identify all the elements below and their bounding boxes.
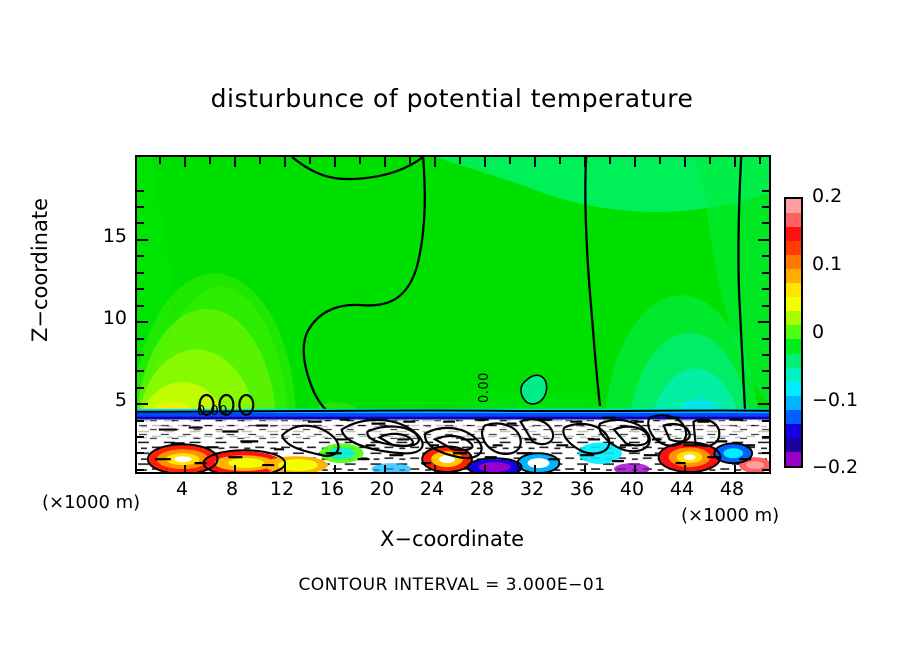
- ytick-right-10: [758, 321, 769, 323]
- xtick-top-32: [534, 157, 536, 167]
- xtick-top-8: [234, 157, 236, 167]
- ytick-right-4: [762, 420, 769, 422]
- ytick-right-15: [758, 239, 769, 241]
- colorbar-band-8: [786, 311, 801, 325]
- colorbar-band-7: [786, 297, 801, 311]
- xtick-top-40: [634, 157, 636, 167]
- colorbar-band-13: [786, 382, 801, 396]
- ytick-label-15: 15: [93, 225, 127, 247]
- ytick-right-14: [762, 255, 769, 257]
- figure-root: disturbunce of potential temperature: [0, 0, 904, 654]
- colorbar-band-0: [786, 199, 801, 213]
- colorbar: [784, 197, 803, 468]
- colorbar-label-2: 0: [812, 321, 824, 343]
- ytick-8: [137, 354, 144, 356]
- colorbar-band-1: [786, 213, 801, 227]
- colorbar-band-5: [786, 269, 801, 283]
- xtick-top-26: [459, 157, 461, 164]
- xtick-top-48: [734, 157, 736, 167]
- ytick-right-5: [758, 403, 769, 405]
- colorbar-band-11: [786, 354, 801, 368]
- colorbar-label-3: −0.1: [812, 389, 858, 411]
- ytick-label-5: 5: [93, 389, 127, 411]
- xtick-16: [334, 465, 336, 472]
- colorbar-band-18: [786, 452, 801, 466]
- colorbar-band-3: [786, 241, 801, 255]
- colorbar-band-17: [786, 438, 801, 452]
- ytick-2: [137, 452, 144, 454]
- colorbar-band-16: [786, 424, 801, 438]
- ytick-label-10: 10: [93, 307, 127, 329]
- xtick-28: [484, 465, 486, 472]
- contour-field: [137, 157, 769, 472]
- xtick-top-24: [434, 157, 436, 167]
- xtick-8: [234, 465, 236, 472]
- colorbar-band-9: [786, 325, 801, 339]
- ytick-3: [137, 436, 144, 438]
- xtick-top-2: [159, 157, 161, 164]
- x-axis-units: (×1000 m): [681, 505, 779, 526]
- colorbar-band-12: [786, 368, 801, 382]
- ytick-15: [137, 239, 148, 241]
- ytick-right-6: [762, 387, 769, 389]
- colorbar-label-0: 0.2: [812, 185, 842, 207]
- ytick-right-2: [762, 452, 769, 454]
- y-axis-title: Z−coordinate: [28, 170, 52, 370]
- ytick-16: [137, 222, 144, 224]
- colorbar-band-6: [786, 283, 801, 297]
- xtick-top-42: [659, 157, 661, 164]
- ytick-11: [137, 305, 144, 307]
- ytick-right-8: [762, 354, 769, 356]
- xtick-32: [534, 465, 536, 472]
- xtick-24: [434, 465, 436, 472]
- xtick-48: [734, 465, 736, 472]
- xtick-top-18: [359, 157, 361, 164]
- xtick-top-34: [559, 157, 561, 164]
- colorbar-band-10: [786, 339, 801, 353]
- xtick-top-38: [609, 157, 611, 164]
- ytick-17: [137, 206, 144, 208]
- xtick-top-44: [684, 157, 686, 167]
- ytick-right-7: [762, 370, 769, 372]
- xtick-top-14: [309, 157, 311, 164]
- colorbar-label-4: −0.2: [812, 456, 858, 478]
- plot-area: [135, 155, 771, 474]
- xtick-label-48: 48: [702, 478, 762, 500]
- z-axis-units: (×1000 m): [42, 492, 140, 513]
- colorbar-band-4: [786, 255, 801, 269]
- xtick-top-50: [759, 157, 761, 164]
- xtick-4: [184, 465, 186, 472]
- ytick-6: [137, 387, 144, 389]
- xtick-top-46: [709, 157, 711, 164]
- xtick-top-36: [584, 157, 586, 167]
- page-title: disturbunce of potential temperature: [0, 84, 904, 113]
- ytick-9: [137, 338, 144, 340]
- xtick-top-28: [484, 157, 486, 167]
- ytick-18: [137, 190, 144, 192]
- xtick-top-4: [184, 157, 186, 167]
- xtick-44: [684, 465, 686, 472]
- x-axis-title: X−coordinate: [0, 527, 904, 551]
- xtick-12: [284, 465, 286, 472]
- ytick-right-3: [762, 436, 769, 438]
- ytick-right-11: [762, 305, 769, 307]
- ytick-4: [137, 420, 144, 422]
- xtick-20: [384, 465, 386, 472]
- xtick-top-22: [409, 157, 411, 164]
- xtick-top-20: [384, 157, 386, 167]
- ytick-right-17: [762, 206, 769, 208]
- ytick-7: [137, 370, 144, 372]
- xtick-top-6: [209, 157, 211, 164]
- ytick-5: [137, 403, 148, 405]
- xtick-36: [584, 465, 586, 472]
- xtick-top-12: [284, 157, 286, 167]
- contour-interval-caption: CONTOUR INTERVAL = 3.000E−01: [0, 575, 904, 595]
- ytick-1: [137, 469, 144, 471]
- ytick-12: [137, 288, 144, 290]
- xtick-top-10: [259, 157, 261, 164]
- xtick-top-16: [334, 157, 336, 167]
- ytick-right-18: [762, 190, 769, 192]
- colorbar-band-15: [786, 410, 801, 424]
- xtick-top-30: [509, 157, 511, 164]
- colorbar-band-2: [786, 227, 801, 241]
- colorbar-band-14: [786, 396, 801, 410]
- ytick-right-13: [762, 272, 769, 274]
- ytick-14: [137, 255, 144, 257]
- ytick-right-12: [762, 288, 769, 290]
- ytick-right-16: [762, 222, 769, 224]
- ytick-10: [137, 321, 148, 323]
- ytick-13: [137, 272, 144, 274]
- ytick-right-1: [762, 469, 769, 471]
- ytick-right-9: [762, 338, 769, 340]
- xtick-40: [634, 465, 636, 472]
- colorbar-label-1: 0.1: [812, 253, 842, 275]
- boundary-layer: [137, 409, 769, 472]
